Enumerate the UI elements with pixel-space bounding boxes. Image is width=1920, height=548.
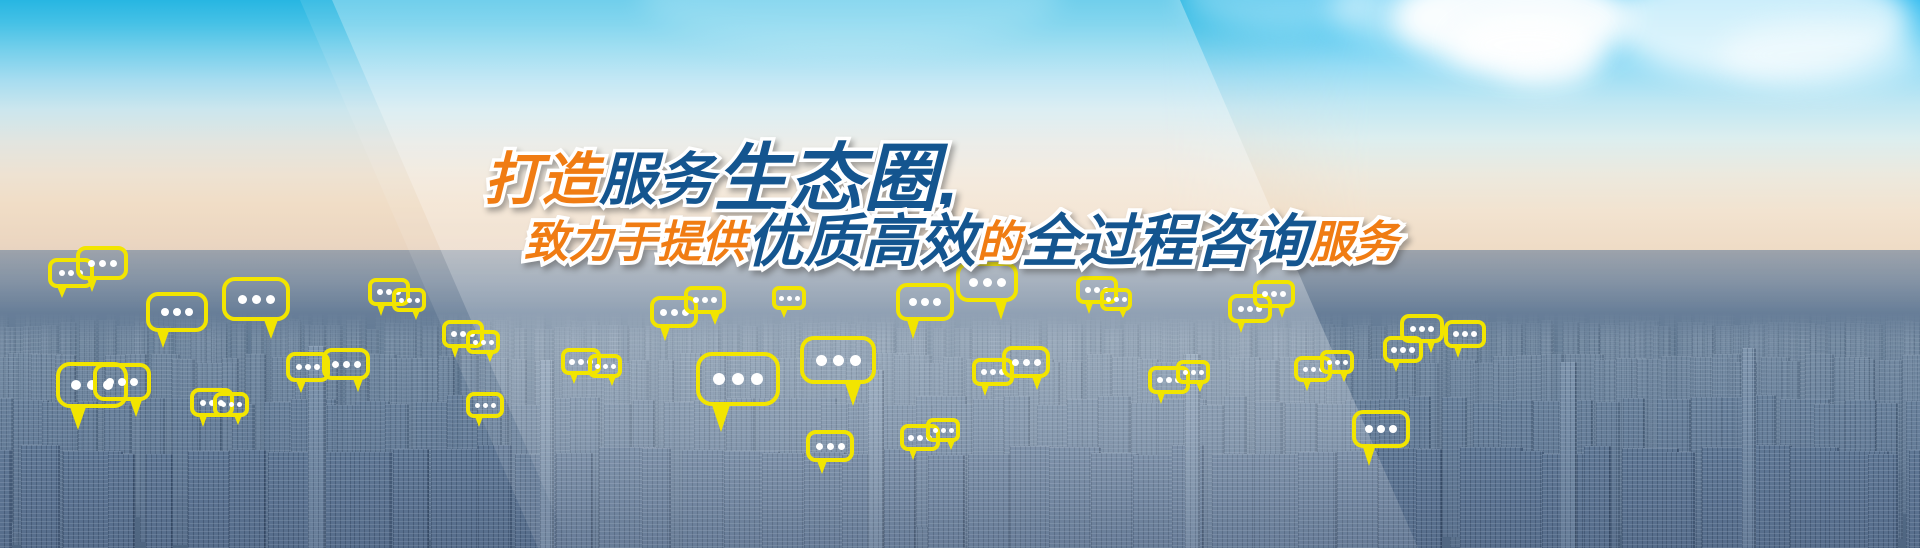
speech-bubble-icon	[896, 283, 954, 321]
speech-bubble-dot	[451, 331, 457, 337]
speech-bubble-dot	[671, 309, 678, 316]
speech-bubble-body	[1002, 346, 1050, 378]
speech-bubble-tail	[1156, 390, 1166, 404]
speech-bubble-tail	[1362, 444, 1376, 466]
speech-bubble-dot	[1183, 370, 1188, 375]
speech-bubble-tail	[946, 438, 956, 450]
speech-bubble-dot	[266, 295, 275, 304]
speech-bubble-tail	[779, 306, 789, 318]
speech-bubble-icon	[800, 336, 876, 384]
speech-bubble-tail	[1084, 300, 1094, 314]
speech-bubble-dot	[732, 373, 744, 385]
speech-bubble-dot	[59, 270, 65, 276]
banner-hero: 打造服务生态圈, 致力于提供优质高效的全过程咨询服务	[0, 0, 1920, 548]
speech-bubble-icon	[1002, 346, 1050, 378]
speech-bubble-dot	[827, 443, 834, 450]
speech-bubble-dot	[693, 297, 699, 303]
speech-bubble-dot	[1343, 360, 1348, 365]
speech-bubble-dot	[99, 260, 106, 267]
speech-bubble-tail	[816, 458, 828, 474]
speech-bubble-dot	[941, 428, 946, 433]
speech-bubble-dot	[660, 309, 667, 316]
speech-bubble-dot	[110, 260, 117, 267]
speech-bubble-icon	[146, 292, 208, 332]
speech-bubble-tail	[994, 298, 1008, 320]
speech-bubble-dot	[473, 340, 478, 345]
speech-bubble-dot	[407, 298, 412, 303]
speech-bubble-body	[1444, 320, 1486, 348]
speech-bubble-dot	[238, 295, 247, 304]
speech-bubble-tail	[411, 308, 421, 320]
speech-bubble-dot	[1199, 370, 1204, 375]
speech-bubble-dot	[305, 364, 311, 370]
speech-bubble-icon	[1320, 350, 1354, 374]
speech-bubble-dot	[252, 295, 261, 304]
speech-bubble-dot	[933, 298, 941, 306]
speech-bubble-icon	[588, 354, 622, 378]
speech-bubble-tail	[1031, 374, 1043, 390]
speech-bubble-dot	[475, 403, 480, 408]
speech-bubble-icon	[392, 288, 426, 312]
speech-bubble-dot	[713, 373, 725, 385]
speech-bubble-dot	[1400, 347, 1406, 353]
speech-bubble-icon	[1100, 288, 1132, 311]
speech-bubble-dot	[933, 428, 938, 433]
speech-bubble-dot	[702, 297, 708, 303]
speech-bubble-tail	[1236, 319, 1246, 333]
speech-bubble-tail	[376, 302, 386, 316]
speech-bubble-icon	[222, 277, 290, 321]
speech-bubble-dot	[779, 296, 784, 301]
speech-bubble-icon	[1444, 320, 1486, 348]
speech-bubble-dot	[377, 289, 383, 295]
speech-bubble-tail	[1391, 359, 1401, 372]
speech-bubble-tail	[709, 310, 721, 325]
speech-bubble-icon	[322, 348, 370, 380]
speech-bubble-dot	[1391, 347, 1397, 353]
speech-bubble-dot	[229, 402, 234, 407]
speech-bubble-body	[772, 286, 806, 310]
speech-bubble-dot	[1377, 425, 1385, 433]
speech-bubble-dot	[1409, 347, 1415, 353]
speech-bubble-body	[806, 430, 854, 462]
speech-bubble-dot	[1419, 326, 1425, 332]
speech-bubble-dot	[1157, 377, 1163, 383]
speech-bubble-dot	[1471, 331, 1477, 337]
speech-bubble-icon	[466, 330, 500, 354]
speech-bubble-dot	[990, 369, 996, 375]
speech-bubble-icon	[696, 352, 780, 406]
speech-bubble-icon	[1176, 360, 1210, 384]
speech-bubble-dot	[481, 340, 486, 345]
speech-bubble-dot	[909, 298, 917, 306]
speech-bubble-tail	[659, 324, 671, 341]
speech-bubble-dot	[1085, 287, 1091, 293]
speech-bubble-dot	[917, 435, 923, 441]
speech-bubble-dot	[1023, 359, 1030, 366]
speech-bubble-tail	[129, 397, 143, 417]
speech-bubble-body	[956, 262, 1018, 302]
speech-bubble-icon	[806, 430, 854, 462]
speech-bubble-dot	[200, 400, 206, 406]
speech-bubble-body	[1253, 280, 1295, 308]
speech-bubble-dot	[1462, 331, 1468, 337]
speech-bubble-tail	[233, 413, 243, 425]
speech-bubble-body	[1400, 314, 1444, 343]
speech-bubble-icon	[926, 418, 960, 442]
speech-bubble-body	[896, 283, 954, 321]
speech-bubble-dot	[1453, 331, 1459, 337]
speech-bubble-dot	[296, 364, 302, 370]
speech-bubble-dot	[850, 355, 861, 366]
speech-bubble-body	[392, 288, 426, 312]
speech-bubble-dot	[130, 378, 138, 386]
speech-bubble-tail	[1453, 344, 1463, 358]
speech-bubble-dot	[185, 308, 193, 316]
speech-bubble-dot	[983, 278, 992, 287]
speech-bubble-dot	[68, 270, 74, 276]
speech-bubble-dot	[161, 308, 169, 316]
speech-bubble-dot	[969, 278, 978, 287]
speech-bubble-dot	[603, 364, 608, 369]
speech-bubble-dot	[106, 378, 114, 386]
speech-bubble-dot	[751, 373, 763, 385]
speech-bubble-dot	[221, 402, 226, 407]
speech-bubble-body	[800, 336, 876, 384]
speech-bubble-dot	[1428, 326, 1434, 332]
speech-bubble-dot	[1034, 359, 1041, 366]
speech-bubble-tail	[569, 371, 579, 384]
speech-bubble-tail	[352, 376, 364, 392]
speech-bubble-dot	[491, 403, 496, 408]
speech-bubble-dot	[1106, 297, 1111, 302]
speech-bubble-tail	[1426, 339, 1436, 353]
speech-bubble-dot	[399, 298, 404, 303]
speech-bubble-dot	[489, 340, 494, 345]
speech-bubble-dot	[173, 308, 181, 316]
speech-bubble-dot	[237, 402, 242, 407]
speech-bubble-tail	[844, 380, 862, 406]
speech-bubble-dot	[833, 355, 844, 366]
speech-bubble-tail	[711, 402, 731, 432]
speech-bubble-tail	[980, 382, 990, 396]
speech-bubble-dot	[1122, 297, 1127, 302]
speech-bubble-icon	[466, 392, 504, 418]
speech-bubble-tail	[906, 317, 920, 339]
speech-bubble-tail	[295, 378, 307, 393]
speech-bubble-tail	[56, 284, 68, 298]
speech-bubble-icon	[213, 392, 249, 417]
speech-bubble-icon	[93, 363, 151, 401]
speech-bubble-icon	[1253, 280, 1295, 308]
speech-bubble-body	[222, 277, 290, 321]
speech-bubble-dot	[816, 443, 823, 450]
speech-bubble-icon	[1400, 314, 1444, 343]
speech-bubble-dot	[921, 298, 929, 306]
speech-bubble-icon	[956, 262, 1018, 302]
speech-bubble-tail	[607, 374, 617, 386]
speech-bubble-tail	[485, 350, 495, 362]
speech-bubble-dot	[1327, 360, 1332, 365]
speech-bubble-tail	[450, 344, 460, 358]
speech-bubble-tail	[908, 447, 918, 460]
speech-bubble-dot	[1012, 359, 1019, 366]
speech-bubble-tail	[263, 317, 279, 339]
speech-bubble-dot	[1238, 306, 1244, 312]
speech-bubble-dot	[343, 361, 350, 368]
speech-bubble-dot	[314, 364, 320, 370]
speech-bubble-body	[213, 392, 249, 417]
speech-bubble-dot	[1365, 425, 1373, 433]
speech-bubble-dot	[578, 359, 584, 365]
speech-bubble-dot	[997, 278, 1006, 287]
speech-bubble-dot	[611, 364, 616, 369]
speech-bubble-dot	[787, 296, 792, 301]
speech-bubble-dot	[88, 260, 95, 267]
speech-bubble-dot	[1166, 377, 1172, 383]
speech-bubble-body	[1352, 410, 1410, 448]
speech-bubble-dot	[1114, 297, 1119, 302]
speech-bubble-dot	[118, 378, 126, 386]
speech-bubble-tail	[1195, 380, 1205, 392]
speech-bubble-dot	[1191, 370, 1196, 375]
speech-bubble-body	[93, 363, 151, 401]
speech-bubble-dot	[1410, 326, 1416, 332]
speech-bubble-dot	[569, 359, 575, 365]
speech-bubble-dot	[1271, 291, 1277, 297]
speech-bubble-tail	[1302, 378, 1312, 391]
speech-bubble-dot	[816, 355, 827, 366]
speech-bubble-icon	[772, 286, 806, 310]
speech-bubble-dot	[981, 369, 987, 375]
speech-bubble-dot	[71, 380, 81, 390]
speech-bubble-dot	[332, 361, 339, 368]
speech-bubble-dot	[595, 364, 600, 369]
speech-bubble-tail	[1277, 304, 1287, 318]
speech-bubble-dot	[1303, 367, 1308, 372]
speech-bubble-tail	[69, 404, 87, 430]
speech-bubble-body	[76, 246, 128, 280]
speech-bubble-tail	[1339, 370, 1349, 382]
speech-bubble-dot	[795, 296, 800, 301]
speech-bubble-icon	[76, 246, 128, 280]
speech-bubble-tail	[86, 276, 98, 292]
speech-bubble-dot	[908, 435, 914, 441]
speech-bubble-dot	[711, 297, 717, 303]
speech-bubble-tail	[1118, 307, 1128, 318]
speech-bubble-dot	[1389, 425, 1397, 433]
speech-bubble-tail	[474, 414, 484, 427]
speech-bubble-icon	[684, 286, 726, 314]
speech-bubble-dot	[1335, 360, 1340, 365]
speech-bubble-tail	[198, 413, 208, 427]
speech-bubble-dot	[354, 361, 361, 368]
speech-bubble-body	[146, 292, 208, 332]
speech-bubble-tail	[156, 328, 170, 348]
speech-bubble-body	[696, 352, 780, 406]
speech-bubble-dot	[1280, 291, 1286, 297]
speech-bubble-dot	[1311, 367, 1316, 372]
speech-bubble-body	[466, 392, 504, 418]
speech-bubble-dot	[483, 403, 488, 408]
speech-bubble-layer	[0, 0, 1920, 548]
speech-bubble-dot	[949, 428, 954, 433]
speech-bubble-dot	[1262, 291, 1268, 297]
speech-bubble-dot	[415, 298, 420, 303]
speech-bubble-dot	[838, 443, 845, 450]
speech-bubble-icon	[1352, 410, 1410, 448]
